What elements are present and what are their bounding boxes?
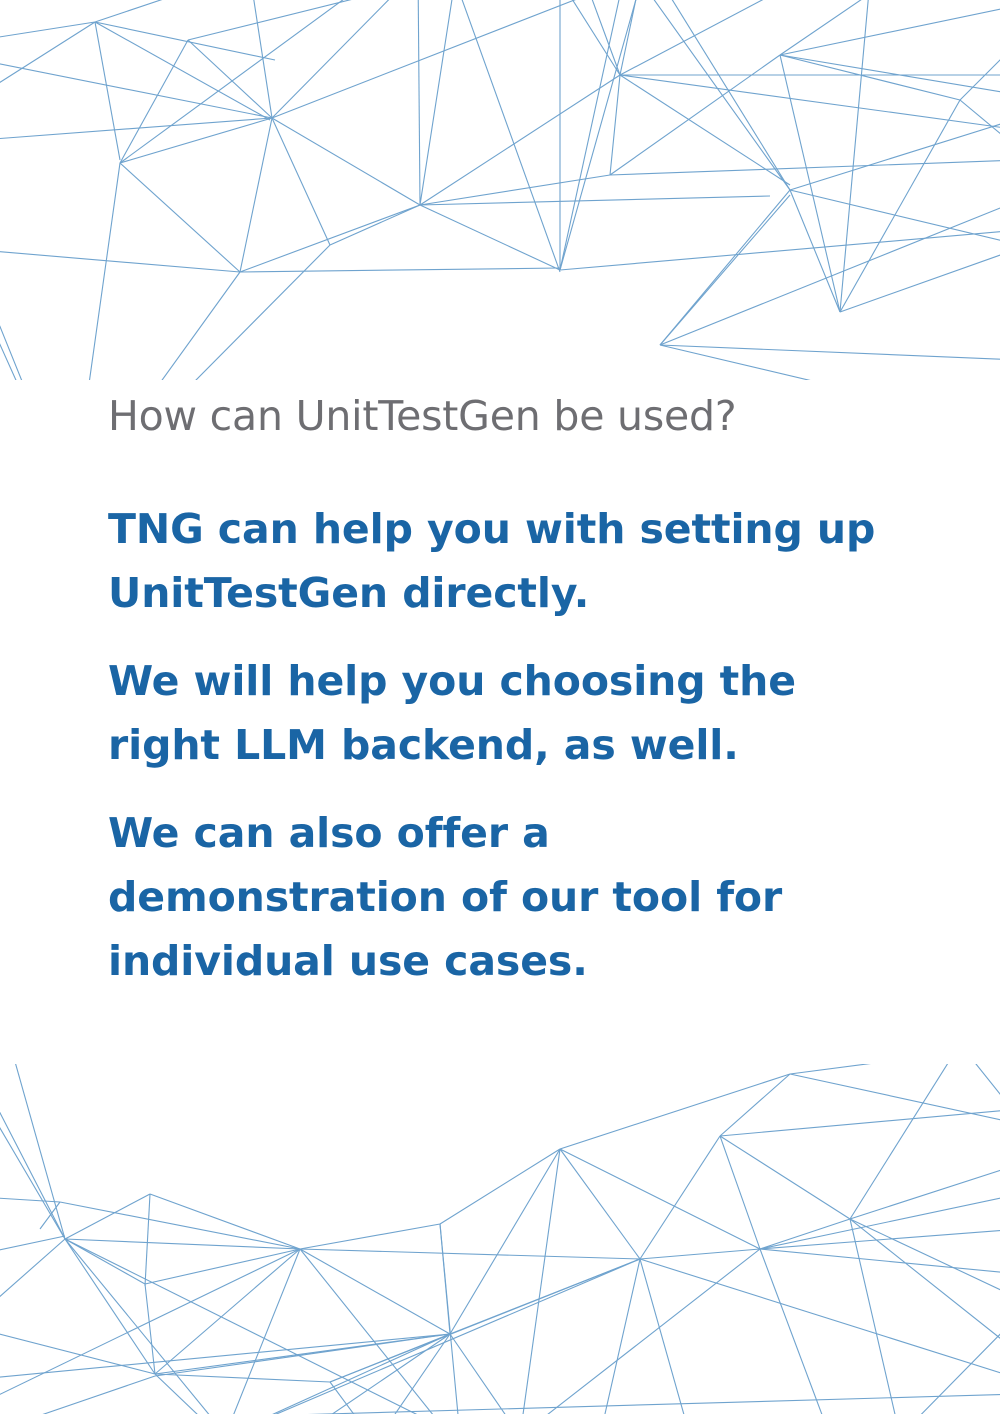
- top-mesh-lines: [0, 0, 1000, 380]
- top-mesh-svg: [0, 0, 1000, 380]
- slide-content: How can UnitTestGen be used? TNG can hel…: [108, 392, 908, 994]
- body-paragraph-2: We will help you choosing the right LLM …: [108, 650, 898, 778]
- slide-canvas: How can UnitTestGen be used? TNG can hel…: [0, 0, 1000, 1414]
- body-paragraph-1: TNG can help you with setting up UnitTes…: [108, 498, 898, 626]
- page-title: How can UnitTestGen be used?: [108, 392, 908, 440]
- bottom-mesh-lines: [0, 1064, 1000, 1414]
- body-paragraph-3: We can also offer a demonstration of our…: [108, 802, 898, 994]
- bottom-mesh-svg: [0, 1064, 1000, 1414]
- bottom-polygon-mesh-decoration: [0, 1064, 1000, 1414]
- top-polygon-mesh-decoration: [0, 0, 1000, 380]
